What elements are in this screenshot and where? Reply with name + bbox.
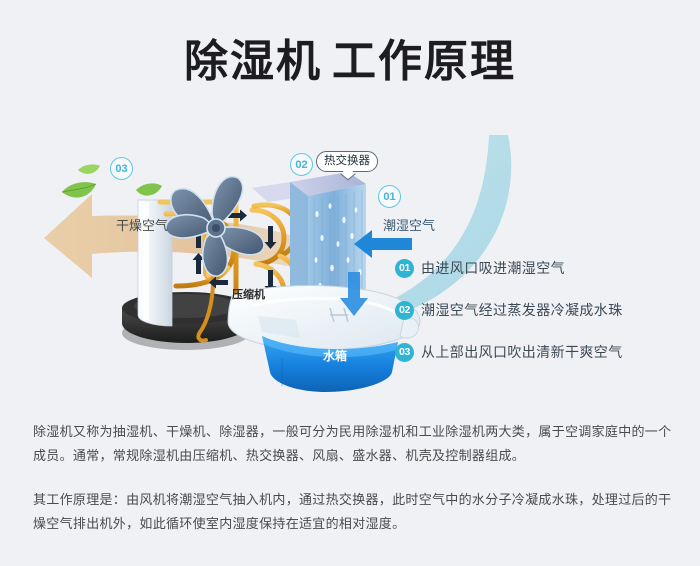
page-title-part1: 除湿机 (184, 37, 322, 86)
legend-badge-02: 02 (395, 301, 414, 320)
paragraph-2: 其工作原理是：由风机将潮湿空气抽入机内，通过热交换器，此时空气中的水分子冷凝成水… (33, 488, 673, 536)
legend-list: 01 由进风口吸进潮湿空气 02 潮湿空气经过蒸发器冷凝成水珠 03 从上部出风… (395, 255, 675, 381)
compressor-label: 压缩机 (232, 286, 265, 302)
legend-badge-01: 01 (395, 259, 414, 278)
heat-exchanger-callout: 热交换器 (316, 151, 378, 172)
diagram-badge-01: 01 (378, 185, 401, 208)
legend-text-03: 从上部出风口吹出清新干爽空气 (421, 342, 623, 362)
paragraph-1: 除湿机又称为抽湿机、干燥机、除湿器，一般可分为民用除湿机和工业除湿机两大类，属于… (33, 420, 673, 468)
page-root: 除湿机工作原理 (0, 0, 700, 566)
legend-badge-03: 03 (395, 343, 414, 362)
legend-item-01: 01 由进风口吸进潮湿空气 (395, 255, 675, 281)
page-title-part2: 工作原理 (332, 37, 516, 86)
diagram-badge-03: 03 (110, 157, 133, 180)
page-title: 除湿机工作原理 (0, 34, 700, 90)
legend-text-01: 由进风口吸进潮湿空气 (421, 258, 565, 278)
dry-air-label: 干燥空气 (116, 215, 168, 234)
legend-text-02: 潮湿空气经过蒸发器冷凝成水珠 (421, 300, 623, 320)
humid-air-label: 潮湿空气 (383, 215, 435, 234)
diagram-badge-02: 02 (290, 153, 313, 176)
water-tank-label: 水箱 (323, 347, 347, 364)
legend-item-03: 03 从上部出风口吹出清新干爽空气 (395, 339, 675, 365)
legend-item-02: 02 潮湿空气经过蒸发器冷凝成水珠 (395, 297, 675, 323)
description-block: 除湿机又称为抽湿机、干燥机、除湿器，一般可分为民用除湿机和工业除湿机两大类，属于… (33, 420, 673, 536)
